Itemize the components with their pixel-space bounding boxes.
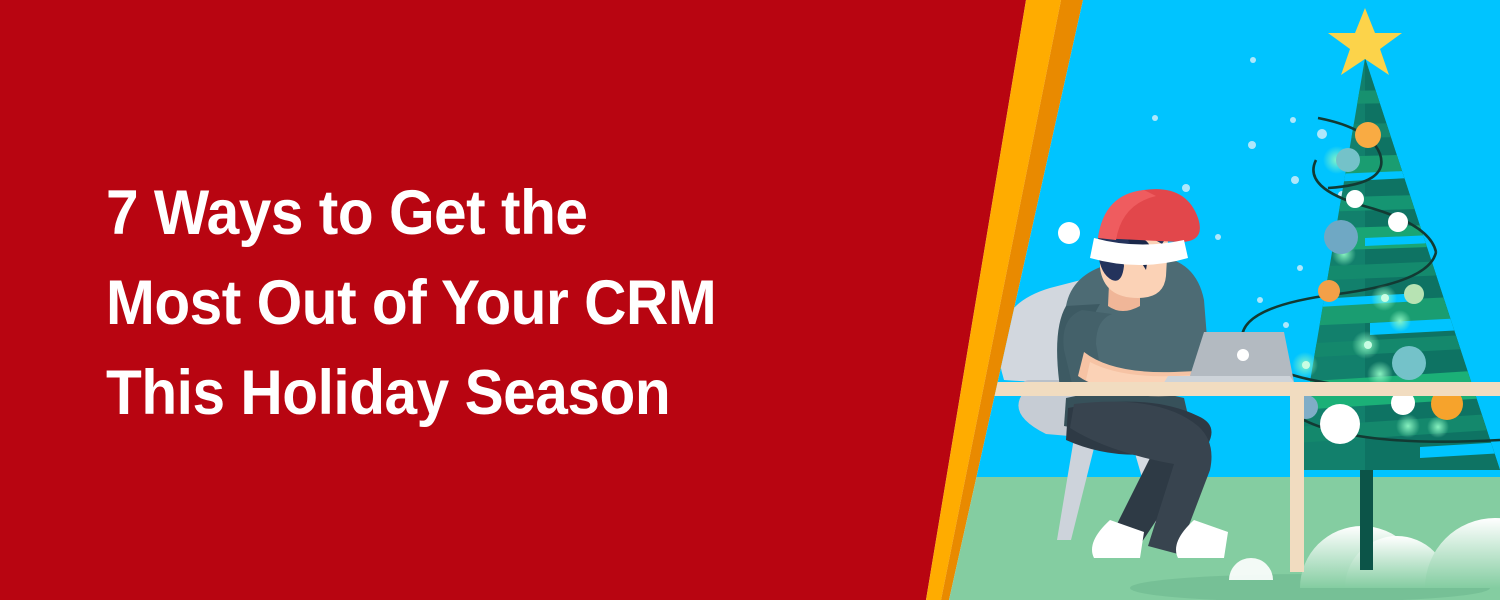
laptop-logo	[1237, 349, 1249, 361]
christmas-tree	[1242, 8, 1500, 570]
desk-top	[940, 382, 1500, 396]
headline-line-2: Most Out of Your CRM	[106, 258, 887, 348]
page-title: 7 Ways to Get the Most Out of Your CRM T…	[106, 168, 887, 438]
blog-banner: 7 Ways to Get the Most Out of Your CRM T…	[0, 0, 1500, 600]
headline-line-3: This Holiday Season	[106, 348, 887, 438]
desk-leg-right	[1290, 396, 1304, 572]
headline-line-1: 7 Ways to Get the	[106, 168, 887, 258]
santa-hat-pompom	[1058, 222, 1080, 244]
